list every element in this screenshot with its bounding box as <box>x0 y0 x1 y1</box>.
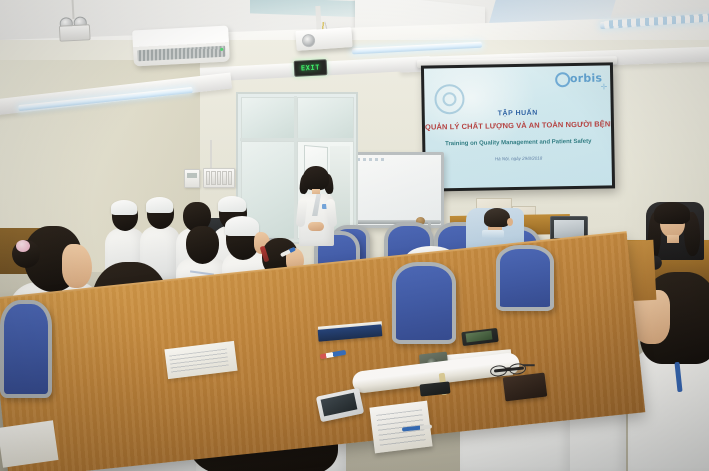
whiteboard <box>344 152 444 228</box>
window-pane <box>241 97 295 139</box>
projector-lens-icon <box>302 34 316 48</box>
thermostat[interactable] <box>184 169 200 188</box>
light-switch[interactable] <box>222 171 226 185</box>
eyeglass-temple <box>523 364 535 366</box>
hair-flower-clip <box>16 240 30 252</box>
light-switch[interactable] <box>217 171 221 185</box>
emergency-light <box>58 16 88 39</box>
light-switch[interactable] <box>211 171 215 185</box>
nurse-face <box>62 244 92 288</box>
wallet <box>503 373 548 402</box>
presenter <box>295 166 339 246</box>
window-pane <box>297 97 354 139</box>
attendee-neck <box>667 235 679 243</box>
window-mullion <box>240 138 354 141</box>
exit-sign: EXIT <box>294 59 328 77</box>
chair-backrest <box>392 262 456 344</box>
projection-screen: orbis ✛ TẬP HUẤN QUẢN LÝ CHẤT LƯỢNG VÀ A… <box>421 62 615 191</box>
banquet-chair <box>496 245 546 303</box>
slide-text-block: TẬP HUẤN QUẢN LÝ CHẤT LƯỢNG VÀ AN TOÀN N… <box>425 108 612 162</box>
attendee-hair <box>654 202 690 224</box>
slide-date-line: Hà Nội, ngày 29/8/2018 <box>426 154 612 162</box>
attendee-hair <box>484 208 510 227</box>
photo-scene: EXIT orbis ✛ TẬP HUẤN QUẢN LÝ CHẤT LƯỢNG… <box>0 0 709 471</box>
banquet-chair <box>0 300 44 390</box>
light-switch-panel[interactable] <box>203 168 235 188</box>
presenter-arm <box>326 199 338 228</box>
ac-vent <box>137 46 225 62</box>
banquet-chair <box>392 262 448 336</box>
notepad <box>0 420 59 467</box>
orbis-cross-icon: ✛ <box>601 82 608 91</box>
thermostat-display <box>187 173 197 178</box>
nurse-hair <box>186 226 219 264</box>
presenter-hands <box>308 222 324 231</box>
chair-backrest <box>0 300 52 398</box>
emergency-light-body <box>59 24 91 42</box>
ceiling-projector <box>295 27 352 51</box>
air-conditioner <box>132 26 230 67</box>
orbis-logo-mark-icon <box>555 72 570 87</box>
slide-title-en: Training on Quality Management and Patie… <box>425 138 611 147</box>
nurse-cap <box>146 197 173 213</box>
presenter-hair <box>303 166 329 190</box>
chair-backrest <box>496 245 554 311</box>
wall-cable <box>210 140 212 170</box>
projected-slide: orbis ✛ TẬP HUẤN QUẢN LÝ CHẤT LƯỢNG VÀ A… <box>424 65 612 188</box>
nurse-cap <box>218 196 246 212</box>
light-switch[interactable] <box>228 171 232 185</box>
light-switch[interactable] <box>206 171 210 185</box>
nurse-cap <box>111 200 137 215</box>
nurse-cap <box>225 216 259 236</box>
slide-subtitle-vi: QUẢN LÝ CHẤT LƯỢNG VÀ AN TOÀN NGƯỜI BỆNH <box>425 119 611 131</box>
shirt-collar <box>482 230 504 238</box>
attendee-ear <box>507 218 513 226</box>
exit-sign-label: EXIT <box>301 64 321 73</box>
orbis-logo-text: orbis <box>570 72 602 86</box>
